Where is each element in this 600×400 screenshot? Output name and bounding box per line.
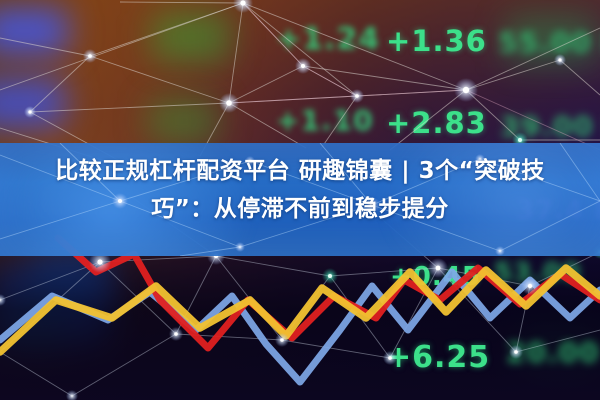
headline-band: 比较正规杠杆配资平台 研趣锦囊 | 3个“突破技 巧”：从停滞不前到稳步提分 <box>0 143 600 256</box>
bottom-darkening-overlay <box>0 250 600 400</box>
page-title: 比较正规杠杆配资平台 研趣锦囊 | 3个“突破技 巧”：从停滞不前到稳步提分 <box>0 143 600 228</box>
stock-market-banner-image: +1.24 +1.36 55.00 M +1.10 +2.83 39.00 M <box>0 0 600 400</box>
headline-line-1: 比较正规杠杆配资平台 研趣锦囊 | 3个“突破技 <box>22 152 578 190</box>
headline-line-2: 巧”：从停滞不前到稳步提分 <box>22 190 578 228</box>
